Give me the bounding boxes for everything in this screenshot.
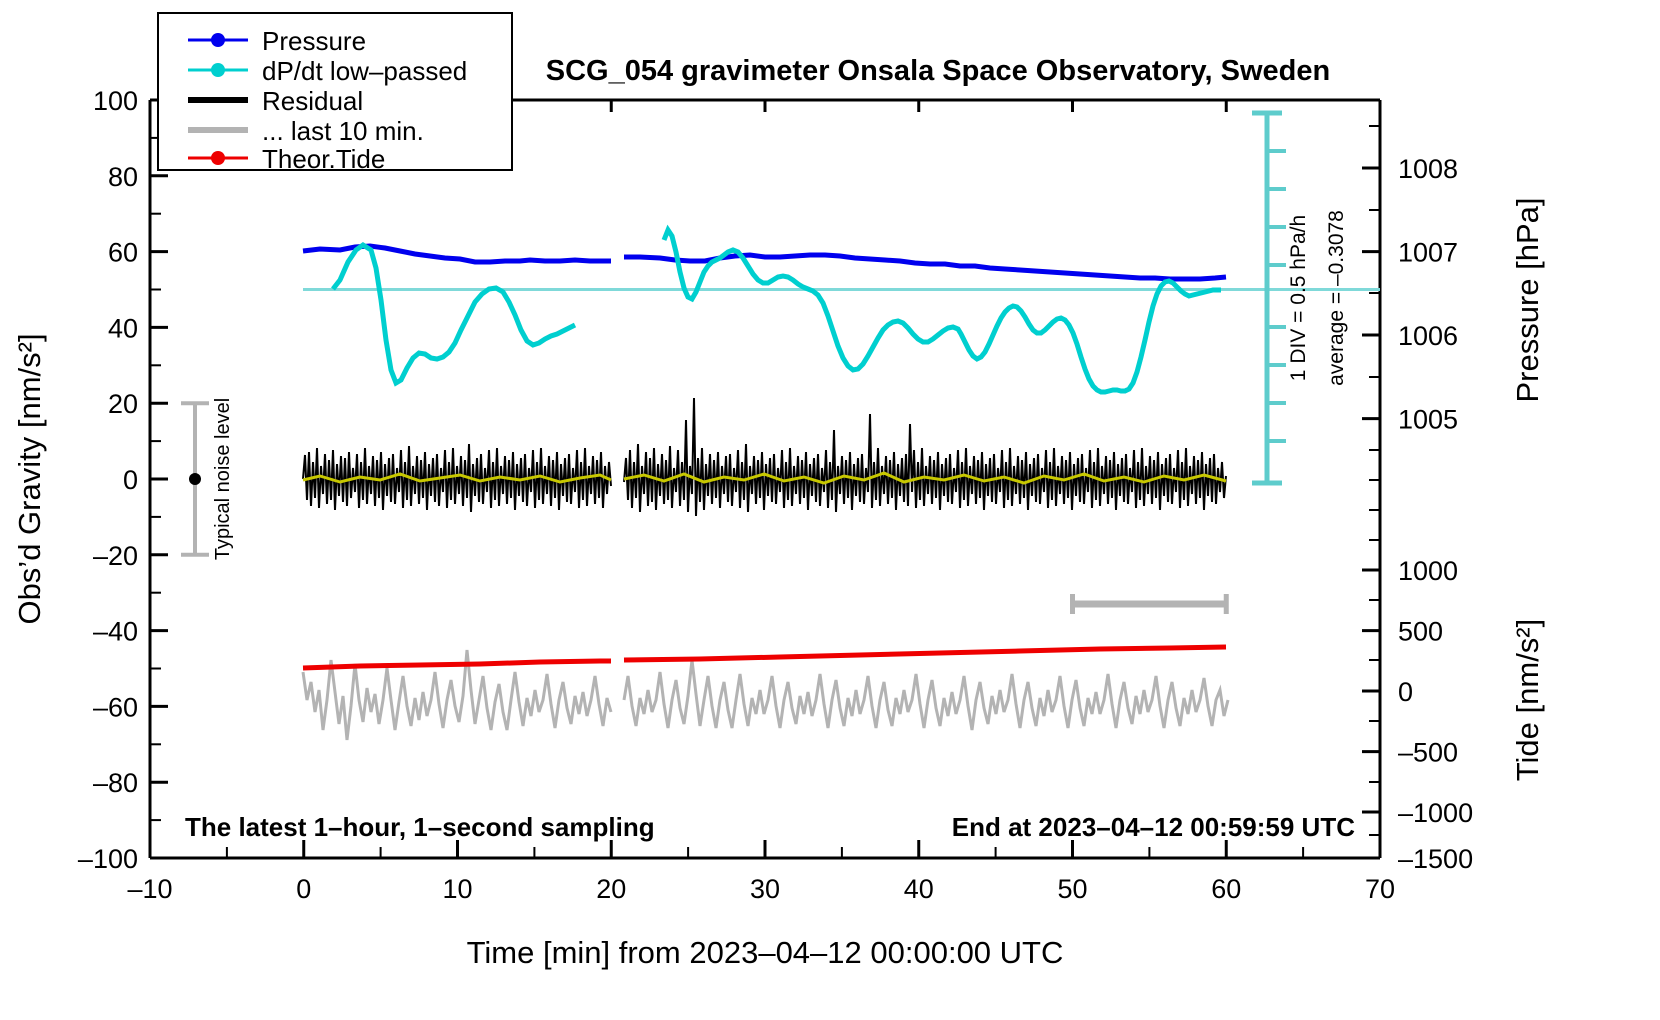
legend-marker-icon	[211, 63, 225, 77]
x-tick-label: 0	[296, 874, 311, 904]
x-tick-label: 50	[1057, 874, 1087, 904]
x-tick-label: 30	[750, 874, 780, 904]
pressure-tick-label: 1005	[1398, 405, 1458, 435]
legend-label: Residual	[262, 86, 363, 116]
legend-marker-icon	[211, 33, 225, 47]
tide-tick-label: 0	[1398, 677, 1413, 707]
y-tick-label: 100	[93, 86, 138, 116]
x-tick-label: 70	[1365, 874, 1395, 904]
pressure-tick-label: 1006	[1398, 321, 1458, 351]
x-tick-label: 20	[596, 874, 626, 904]
y-tick-label: –60	[93, 692, 138, 722]
y-tick-label: –80	[93, 768, 138, 798]
pressure-tick-label: 1007	[1398, 238, 1458, 268]
page-title: SCG_054 gravimeter Onsala Space Observat…	[546, 55, 1330, 87]
tide-tick-label: 500	[1398, 617, 1443, 647]
figure-root: 100 80 60 40 20 0 –20 –40 –60 –80 –100	[0, 0, 1660, 1020]
tide-tick-label: –1500	[1398, 844, 1473, 874]
legend-label: Theor.Tide	[262, 144, 385, 174]
gravimeter-chart: 100 80 60 40 20 0 –20 –40 –60 –80 –100	[0, 0, 1660, 1020]
y-axis-title-pressure: Pressure [hPa]	[1510, 197, 1545, 402]
y-tick-label: 20	[108, 389, 138, 419]
legend: Pressure dP/dt low–passed Residual ... l…	[158, 13, 512, 174]
y-tick-label: 60	[108, 238, 138, 268]
tide-tick-label: –500	[1398, 738, 1458, 768]
x-tick-label: 40	[904, 874, 934, 904]
tide-tick-label: 1000	[1398, 556, 1458, 586]
footer-right-annotation: End at 2023–04–12 00:59:59 UTC	[952, 812, 1355, 842]
x-tick-label: –10	[127, 874, 172, 904]
x-tick-label: 10	[442, 874, 472, 904]
y-tick-label: –100	[78, 844, 138, 874]
tide-tick-label: –1000	[1398, 798, 1473, 828]
dpdt-scale-label: 1 DIV = 0.5 hPa/h	[1287, 215, 1310, 381]
legend-label: Pressure	[262, 26, 366, 56]
y-tick-label: 40	[108, 313, 138, 343]
footer-left-annotation: The latest 1–hour, 1–second sampling	[185, 812, 655, 842]
pressure-tick-label: 1008	[1398, 154, 1458, 184]
y-tick-label: –20	[93, 541, 138, 571]
y-tick-label: –40	[93, 617, 138, 647]
x-tick-label: 60	[1211, 874, 1241, 904]
legend-label: ... last 10 min.	[262, 116, 424, 146]
legend-label: dP/dt low–passed	[262, 56, 467, 86]
noise-level-label: Typical noise level	[212, 398, 234, 560]
y-tick-label: 0	[123, 465, 138, 495]
y-axis-title-left: Obs’d Gravity [nm/s²]	[12, 333, 47, 624]
y-axis-title-tide: Tide [nm/s²]	[1510, 619, 1545, 782]
x-axis-title: Time [min] from 2023–04–12 00:00:00 UTC	[467, 935, 1064, 970]
legend-marker-icon	[211, 151, 225, 165]
y-tick-label: 80	[108, 162, 138, 192]
dpdt-average-label: average = –0.3078	[1325, 210, 1348, 386]
